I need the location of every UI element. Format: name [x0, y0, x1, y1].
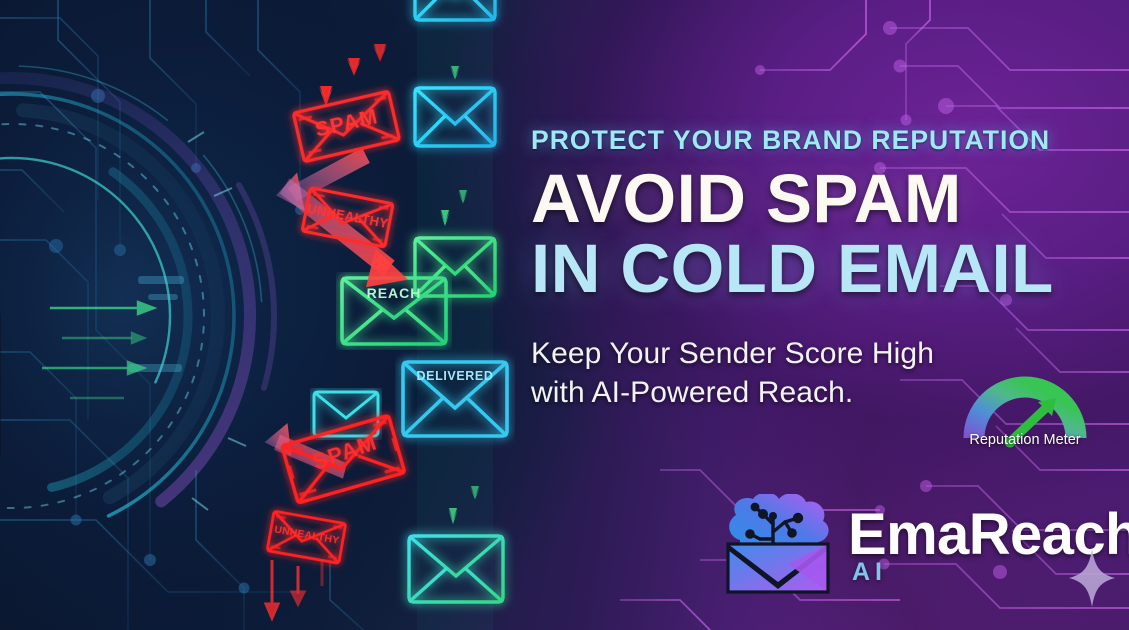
subheadline-line-1: Keep Your Sender Score High	[531, 334, 961, 373]
gauge-label: Reputation Meter	[950, 432, 1100, 448]
subheadline: Keep Your Sender Score High with AI-Powe…	[531, 334, 961, 412]
sparkle-star-icon	[1068, 549, 1116, 607]
brand-logo[interactable]: EmaReach AI	[722, 492, 1092, 602]
stamp-label: SPAM	[313, 105, 380, 142]
blocked-spam-stamps: SPAM UNHEALTHY	[255, 0, 475, 630]
banner-canvas: DELIVERED	[0, 0, 1129, 630]
brain-envelope-logo-icon	[722, 494, 834, 594]
stamp-spam-top: SPAM	[293, 91, 399, 161]
subheadline-line-2: with AI-Powered Reach.	[531, 373, 961, 412]
logo-tagline: AI	[852, 558, 887, 587]
headline-line-2: IN COLD EMAIL	[531, 235, 1091, 303]
headline-line-1: AVOID SPAM	[531, 165, 1091, 233]
brain-envelope-hero-icon	[0, 166, 122, 466]
spam-flow-arrows-bottom	[252, 560, 342, 630]
stamp-unhealthy-bottom: UNHEALTHY	[267, 511, 346, 563]
eyebrow-text: PROTECT YOUR BRAND REPUTATION	[531, 126, 1091, 156]
